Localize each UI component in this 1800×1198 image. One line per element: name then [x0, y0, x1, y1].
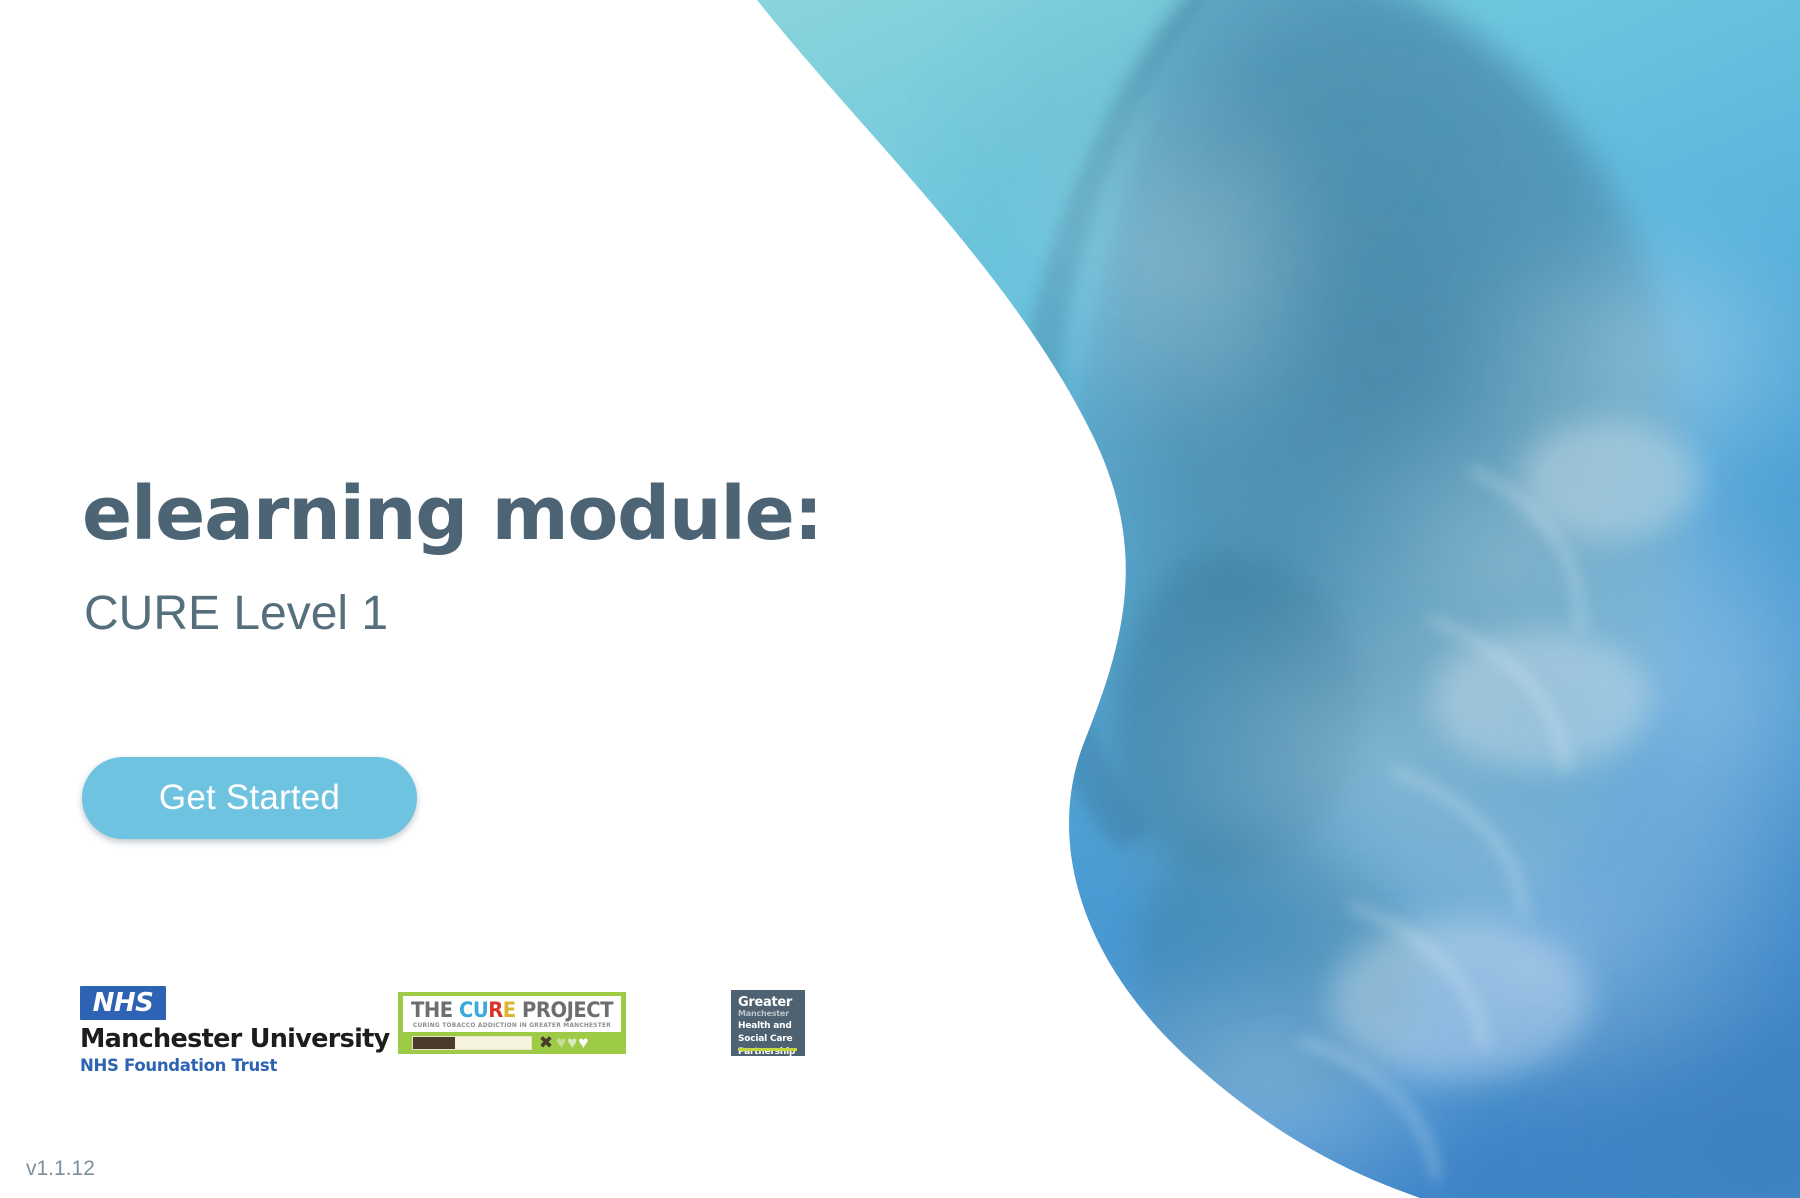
page-title: elearning module: [82, 477, 822, 551]
title-block: elearning module: CURE Level 1 [82, 477, 822, 551]
get-started-button[interactable]: Get Started [82, 757, 417, 839]
title-slide: elearning module: CURE Level 1 Get Start… [0, 0, 1800, 1198]
page-subtitle: CURE Level 1 [84, 590, 388, 638]
content-column: elearning module: CURE Level 1 Get Start… [82, 0, 982, 1198]
version-label: v1.1.12 [26, 1157, 95, 1181]
